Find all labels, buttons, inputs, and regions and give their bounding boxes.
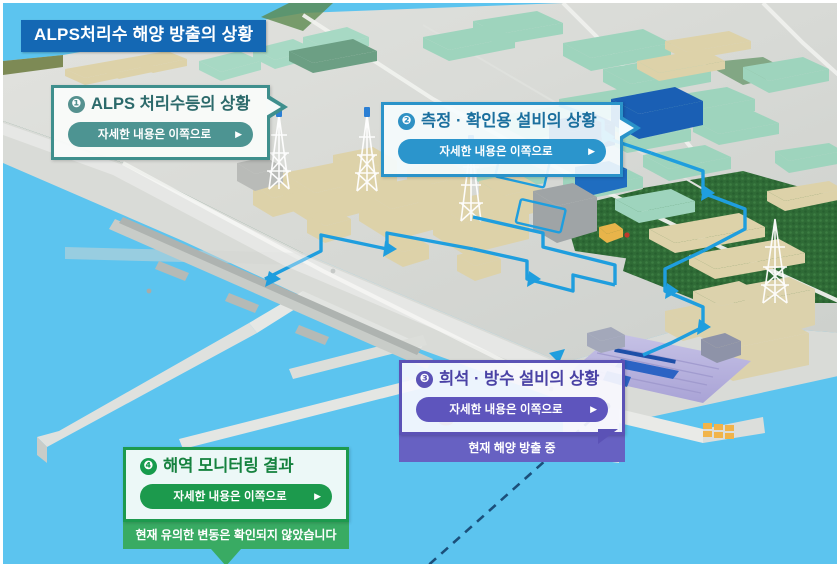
callout-3-title: 희석 · 방수 설비의 상황 [439,370,599,390]
page-title: ALPS처리수 해양 방출의 상황 [21,20,266,52]
callout-3-button-label: 자세한 내용은 이쪽으로 [430,401,582,417]
callout-4-frame: ❹ 해역 모니터링 결과 자세한 내용은 이쪽으로 ▶ [123,447,349,522]
callout-1-pointer-inner [266,98,281,116]
callout-2-detail-button[interactable]: 자세한 내용은 이쪽으로 ▶ [398,139,606,164]
callout-2-badge: ❷ [398,113,415,130]
callout-4-title: 해역 모니터링 결과 [163,457,294,477]
callout-3-pointer [598,429,618,444]
callout-1-alps-treated-water: ❶ ALPS 처리수등의 상황 자세한 내용은 이쪽으로 ▶ [51,85,270,160]
callout-2-frame: ❷ 측정 · 확인용 설비의 상황 자세한 내용은 이쪽으로 ▶ [381,102,623,177]
callout-3-dilution-discharge-facility: ❸ 희석 · 방수 설비의 상황 자세한 내용은 이쪽으로 ▶ 현재 해양 방출… [399,360,625,462]
callout-4-status-badge: 현재 유의한 변동은 확인되지 않았습니다 [123,522,349,549]
callout-4-heading: ❹ 해역 모니터링 결과 [140,457,332,477]
callout-4-sea-area-monitoring: ❹ 해역 모니터링 결과 자세한 내용은 이쪽으로 ▶ 현재 유의한 변동은 확… [123,447,349,549]
chevron-right-icon: ▶ [588,146,595,157]
callout-2-title: 측정 · 확인용 설비의 상황 [421,112,597,132]
callout-3-badge: ❸ [416,371,433,388]
chevron-right-icon: ▶ [590,404,597,415]
chevron-right-icon: ▶ [314,491,321,502]
callout-4-pointer [211,549,241,566]
callout-3-detail-button[interactable]: 자세한 내용은 이쪽으로 ▶ [416,397,608,422]
callout-3-status-badge: 현재 해양 방출 중 [399,435,625,462]
callout-4-detail-button[interactable]: 자세한 내용은 이쪽으로 ▶ [140,484,332,509]
callout-1-detail-button[interactable]: 자세한 내용은 이쪽으로 ▶ [68,122,253,147]
callout-4-button-label: 자세한 내용은 이쪽으로 [154,488,306,504]
chevron-right-icon: ▶ [235,129,242,140]
callout-2-measurement-facility: ❷ 측정 · 확인용 설비의 상황 자세한 내용은 이쪽으로 ▶ [381,102,623,177]
callout-1-frame: ❶ ALPS 처리수등의 상황 자세한 내용은 이쪽으로 ▶ [51,85,270,160]
callout-3-heading: ❸ 희석 · 방수 설비의 상황 [416,370,608,390]
callout-2-button-label: 자세한 내용은 이쪽으로 [412,143,580,159]
callout-3-frame: ❸ 희석 · 방수 설비의 상황 자세한 내용은 이쪽으로 ▶ [399,360,625,435]
callout-1-heading: ❶ ALPS 처리수등의 상황 [68,95,253,115]
callout-4-badge: ❹ [140,458,157,475]
callout-1-button-label: 자세한 내용은 이쪽으로 [82,126,227,142]
callout-2-heading: ❷ 측정 · 확인용 설비의 상황 [398,112,606,132]
callout-1-title: ALPS 처리수등의 상황 [91,95,250,115]
alps-discharge-status-map: ALPS처리수 해양 방출의 상황 ❶ ALPS 처리수등의 상황 자세한 내용… [0,0,840,567]
callout-1-badge: ❶ [68,96,85,113]
callout-2-pointer-inner [619,119,634,137]
